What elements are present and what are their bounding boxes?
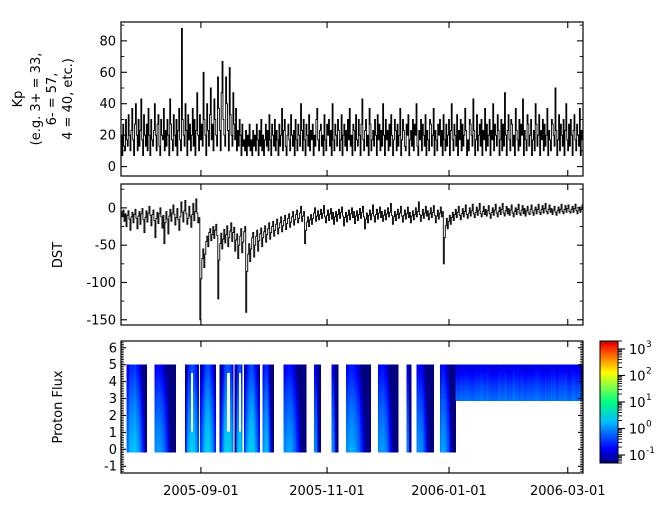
colorbar-tick-exponent: -1 — [646, 446, 655, 456]
kp-axis-title-line4: 4 = 40, etc.) — [61, 58, 76, 140]
y-tick-label: -150 — [86, 313, 116, 328]
y-tick-label: 0 — [108, 201, 116, 216]
y-tick-label: 0 — [108, 160, 116, 175]
y-tick-label: 3 — [109, 392, 117, 407]
x-tick-label: 2005-11-01 — [289, 484, 365, 499]
dst-axis-title: DST — [51, 242, 66, 268]
y-tick-label: 4 — [109, 375, 117, 390]
colorbar-tick-mantissa: 10 — [629, 423, 646, 438]
y-tick-label: 6 — [109, 341, 117, 356]
x-tick-label: 2006-01-01 — [411, 484, 487, 499]
colorbar-tick-mantissa: 10 — [629, 449, 646, 464]
y-tick-label: 80 — [99, 34, 116, 49]
colorbar-tick-mantissa: 10 — [629, 343, 646, 358]
y-tick-label: -50 — [95, 239, 116, 254]
x-tick-label: 2006-03-01 — [530, 484, 606, 499]
space-weather-figure: 020406080 Kp (e.g. 3+ = 33, 6- = 57, 4 =… — [0, 0, 665, 523]
colorbar-tick-exponent: 3 — [646, 340, 652, 350]
y-tick-label: 0 — [109, 443, 117, 458]
colorbar-tick-exponent: 1 — [646, 393, 652, 403]
kp-axis-title-line2: (e.g. 3+ = 33, — [29, 53, 44, 146]
colorbar-tick-mantissa: 10 — [629, 396, 646, 411]
y-tick-label: 40 — [99, 97, 116, 112]
y-tick-label: 20 — [99, 129, 116, 144]
y-tick-label: 2 — [109, 409, 117, 424]
kp-axis-title-line3: 6- = 57, — [45, 73, 60, 126]
y-tick-label: 60 — [99, 66, 116, 81]
y-tick-label: 1 — [109, 426, 117, 441]
y-tick-label: 5 — [109, 358, 117, 373]
colorbar-gradient — [600, 341, 618, 463]
x-tick-label: 2005-09-01 — [163, 484, 239, 499]
colorbar-tick-exponent: 2 — [646, 366, 652, 376]
y-tick-label: -100 — [86, 276, 116, 291]
colorbar-tick-exponent: 0 — [646, 420, 652, 430]
figure-svg: 020406080 Kp (e.g. 3+ = 33, 6- = 57, 4 =… — [0, 0, 665, 523]
colorbar-tick-mantissa: 10 — [629, 369, 646, 384]
proton-flux-axis-title: Proton Flux — [51, 370, 66, 443]
y-tick-label: -1 — [104, 460, 117, 475]
kp-axis-title-line1: Kp — [11, 91, 26, 108]
